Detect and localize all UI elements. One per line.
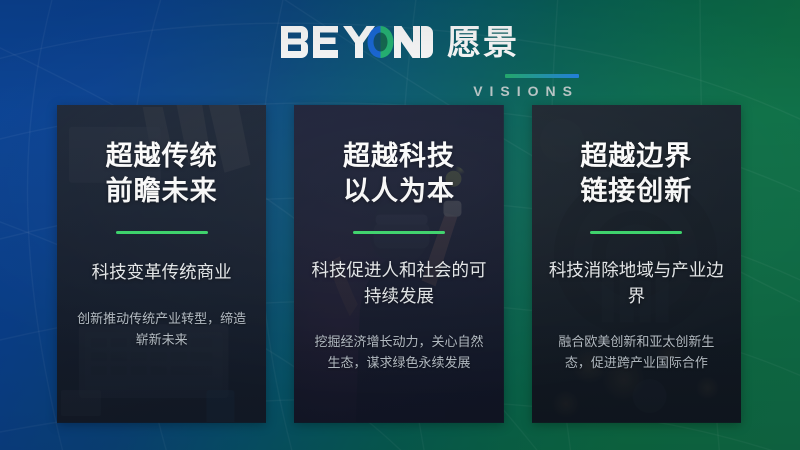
- card-content: 超越边界 链接创新 科技消除地域与产业边界 融合欧美创新和亚太创新生态，促进跨产…: [532, 105, 741, 423]
- logo-subtitle: VISIONS: [367, 83, 579, 99]
- card-subtitle: 科技消除地域与产业边界: [546, 258, 727, 309]
- logo-accent-bar: [505, 74, 579, 78]
- brand-logo: 愿景 VISIONS: [0, 24, 800, 99]
- logo-subtitle-block: VISIONS: [367, 74, 579, 99]
- split-o-glyph: [368, 26, 394, 58]
- card-title: 超越边界 链接创新: [546, 139, 727, 209]
- vision-card-3[interactable]: 超越边界 链接创新 科技消除地域与产业边界 融合欧美创新和亚太创新生态，促进跨产…: [532, 105, 741, 423]
- card-description: 挖掘经济增长动力，关心自然生态，谋求绿色永续发展: [308, 331, 489, 373]
- card-divider: [590, 231, 682, 234]
- card-divider: [353, 231, 445, 234]
- card-content: 超越传统 前瞻未来 科技变革传统商业 创新推动传统产业转型，缔造崭新未来: [57, 105, 266, 423]
- presentation-slide: 愿景 VISIONS: [0, 0, 800, 450]
- card-content: 超越科技 以人为本 科技促进人和社会的可持续发展 挖掘经济增长动力，关心自然生态…: [294, 105, 503, 423]
- card-subtitle: 科技促进人和社会的可持续发展: [308, 258, 489, 309]
- card-divider: [116, 231, 208, 234]
- logo-chinese-name: 愿景: [447, 26, 519, 60]
- beyond-wordmark: [281, 24, 433, 62]
- card-title: 超越科技 以人为本: [308, 139, 489, 209]
- card-description: 创新推动传统产业转型，缔造崭新未来: [71, 308, 252, 350]
- card-subtitle: 科技变革传统商业: [71, 260, 252, 285]
- card-title: 超越传统 前瞻未来: [71, 139, 252, 209]
- logo-row: 愿景: [281, 24, 519, 62]
- card-description: 融合欧美创新和亚太创新生态，促进跨产业国际合作: [546, 331, 727, 373]
- vision-card-2[interactable]: 超越科技 以人为本 科技促进人和社会的可持续发展 挖掘经济增长动力，关心自然生态…: [294, 105, 503, 423]
- vision-card-1[interactable]: 超越传统 前瞻未来 科技变革传统商业 创新推动传统产业转型，缔造崭新未来: [57, 105, 266, 423]
- card-row: 超越传统 前瞻未来 科技变革传统商业 创新推动传统产业转型，缔造崭新未来: [57, 105, 741, 423]
